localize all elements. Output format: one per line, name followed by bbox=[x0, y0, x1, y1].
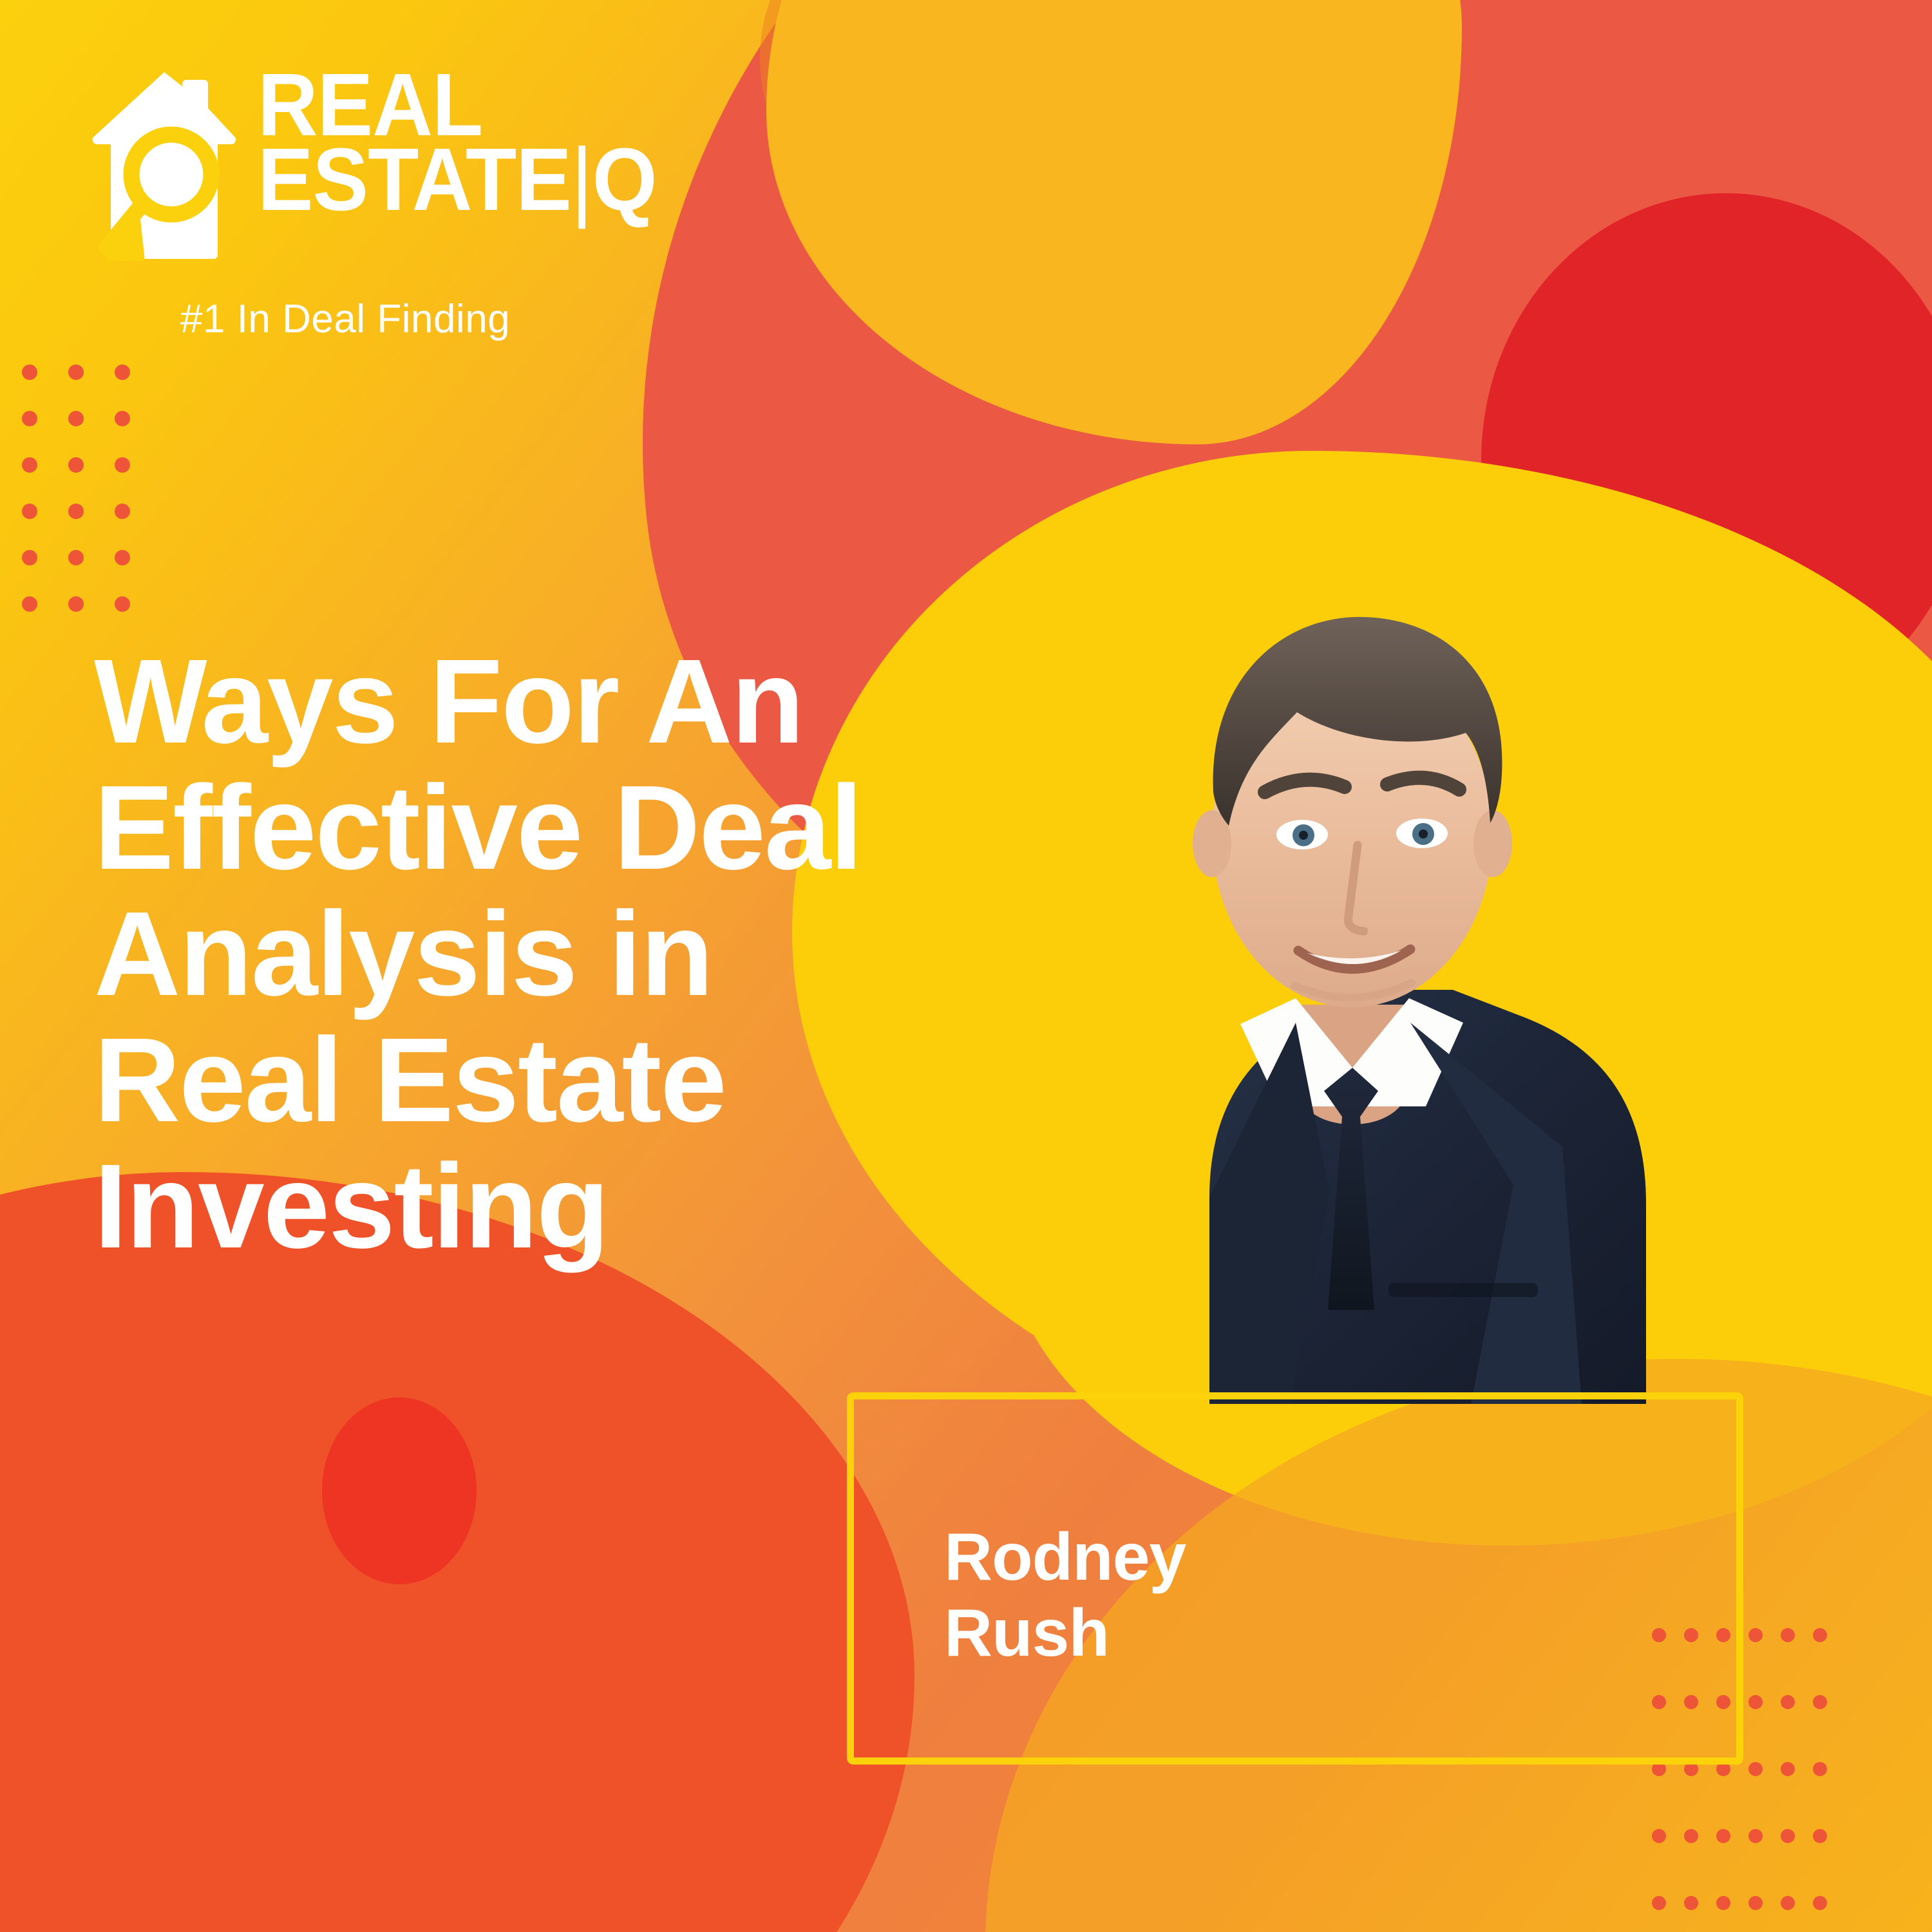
brand-logo: REAL ESTATE|Q #1 In Deal Finding bbox=[90, 64, 773, 342]
decorative-dot bbox=[1748, 1695, 1763, 1709]
brand-tagline: #1 In Deal Finding bbox=[180, 296, 773, 342]
blob-red-circle-bottom-left bbox=[322, 1397, 477, 1584]
headline-line-5: Investing bbox=[94, 1144, 918, 1270]
decorative-dot bbox=[1716, 1829, 1730, 1843]
decorative-dot bbox=[1813, 1829, 1827, 1843]
decorative-dot bbox=[1813, 1695, 1827, 1709]
speaker-first-name: Rodney bbox=[944, 1519, 1186, 1595]
decorative-dot bbox=[1748, 1762, 1763, 1776]
decorative-dot bbox=[1781, 1695, 1795, 1709]
speaker-photo bbox=[1005, 489, 1700, 1404]
decorative-dot bbox=[22, 411, 37, 426]
decorative-dot bbox=[68, 596, 84, 612]
headline: Ways For An Effective Deal Analysis in R… bbox=[94, 639, 918, 1270]
house-magnifier-icon bbox=[90, 70, 238, 263]
decorative-dot bbox=[115, 457, 130, 473]
decorative-dot bbox=[1781, 1762, 1795, 1776]
speaker-name: Rodney Rush bbox=[944, 1519, 1186, 1671]
logo-text-suffix: Q bbox=[592, 143, 657, 218]
decorative-dot bbox=[1684, 1829, 1698, 1843]
social-media-card: REAL ESTATE|Q #1 In Deal Finding Ways Fo… bbox=[0, 0, 1932, 1932]
decorative-dot bbox=[1781, 1829, 1795, 1843]
decorative-dot bbox=[1813, 1896, 1827, 1910]
decorative-dot bbox=[68, 365, 84, 380]
decorative-dot bbox=[22, 504, 37, 519]
dot-grid-top-left bbox=[22, 365, 161, 643]
decorative-dot bbox=[115, 504, 130, 519]
decorative-dot bbox=[115, 365, 130, 380]
speaker-last-name: Rush bbox=[944, 1595, 1186, 1671]
decorative-dot bbox=[1748, 1628, 1763, 1642]
headline-line-4: Real Estate bbox=[94, 1018, 918, 1144]
decorative-dot bbox=[1652, 1829, 1666, 1843]
decorative-dot bbox=[22, 457, 37, 473]
decorative-dot bbox=[68, 457, 84, 473]
headline-line-1: Ways For An bbox=[94, 639, 918, 765]
decorative-dot bbox=[22, 550, 37, 565]
decorative-dot bbox=[1684, 1896, 1698, 1910]
decorative-dot bbox=[1813, 1628, 1827, 1642]
decorative-dot bbox=[115, 411, 130, 426]
headline-line-3: Analysis in bbox=[94, 891, 918, 1018]
decorative-dot bbox=[1781, 1896, 1795, 1910]
decorative-dot bbox=[22, 596, 37, 612]
headline-line-2: Effective Deal bbox=[94, 765, 918, 891]
decorative-dot bbox=[68, 504, 84, 519]
decorative-dot bbox=[22, 365, 37, 380]
logo-text-line-2: ESTATE bbox=[258, 143, 571, 218]
decorative-dot bbox=[1781, 1628, 1795, 1642]
decorative-dot bbox=[68, 550, 84, 565]
decorative-dot bbox=[115, 550, 130, 565]
speaker-name-box: Rodney Rush bbox=[847, 1392, 1743, 1765]
decorative-dot bbox=[1716, 1896, 1730, 1910]
decorative-dot bbox=[1813, 1762, 1827, 1776]
logo-text-divider: | bbox=[571, 143, 592, 218]
decorative-dot bbox=[68, 411, 84, 426]
decorative-dot bbox=[1652, 1896, 1666, 1910]
decorative-dot bbox=[115, 596, 130, 612]
decorative-dot bbox=[1748, 1829, 1763, 1843]
decorative-dot bbox=[1748, 1896, 1763, 1910]
